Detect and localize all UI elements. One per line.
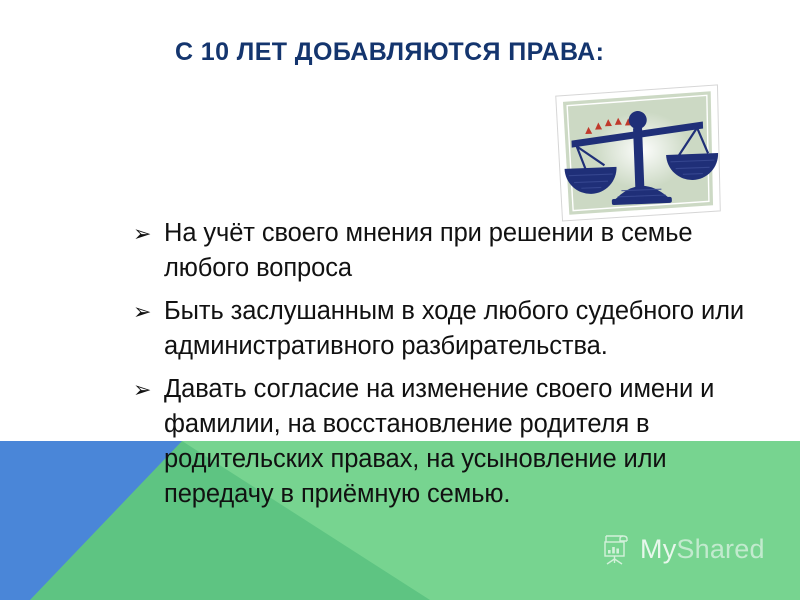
watermark-shared: Shared [676,534,764,564]
list-item: ➢ Быть заслушанным в ходе любого судебно… [131,294,751,364]
list-item: ➢ На учёт своего мнения при решении в се… [131,216,751,286]
scales-of-justice-icon [553,83,724,223]
watermark-my: My [640,534,676,564]
chevron-bullet-icon: ➢ [133,372,151,407]
list-item-text: На учёт своего мнения при решении в семь… [164,216,751,286]
watermark-label: MyShared [640,534,765,565]
list-item: ➢ Давать согласие на изменение своего им… [131,372,751,512]
slide-canvas: С 10 ЛЕТ ДОБАВЛЯЮТСЯ ПРАВА: [0,0,800,600]
bullet-list: ➢ На учёт своего мнения при решении в се… [131,216,751,512]
chevron-bullet-icon: ➢ [133,216,151,251]
list-item-text: Давать согласие на изменение своего имен… [164,372,751,512]
list-item-text: Быть заслушанным в ходе любого судебного… [164,294,751,364]
presentation-chart-icon [601,533,631,565]
chevron-bullet-icon: ➢ [133,294,151,329]
page-title: С 10 ЛЕТ ДОБАВЛЯЮТСЯ ПРАВА: [175,38,735,67]
myshared-watermark: MyShared [601,533,765,565]
